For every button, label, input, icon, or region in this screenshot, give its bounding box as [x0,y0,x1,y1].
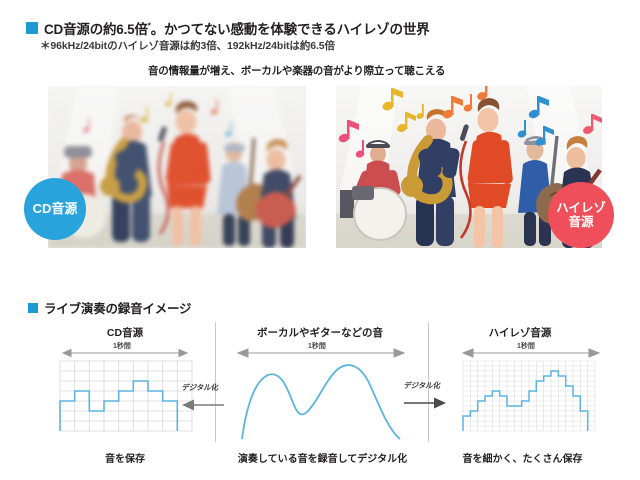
arrow-right-icon [398,393,450,413]
sub-caption: 音の情報量が増え、ボーカルや楽器の音がより際立って聴こえる [148,63,445,78]
duration-label-cd: 1秒間 [113,341,131,351]
badge-hires-label-2: 音源 [568,215,593,229]
panel-hires-source: ハイレゾ 音源 [336,86,602,248]
arrow-left-icon [178,395,230,415]
badge-hires-source: ハイレゾ 音源 [548,182,614,248]
col-title-analog: ボーカルやギターなどの音 [225,325,415,340]
waveform-analog [242,365,400,439]
badge-cd-source: CD音源 [24,178,86,240]
section2-heading-row: ライブ演奏の録音イメージ [28,298,191,317]
chart-analog-svg [232,343,410,443]
badge-hires-label-1: ハイレゾ [556,201,606,215]
page-title: CD音源の約6.5倍*。かつてない感動を体験できるハイレゾの世界 [44,18,429,38]
blue-square-bullet-icon-2 [28,303,38,313]
panel-cd-source: CD音源 [48,86,306,248]
blue-square-bullet-icon [26,22,38,34]
band-illustration-blurred [48,86,306,248]
page-root: CD音源の約6.5倍*。かつてない感動を体験できるハイレゾの世界 ＊96kHz/… [0,0,640,480]
caption-analog: 演奏している音を録音してデジタル化 [225,450,420,465]
badge-cd-label: CD音源 [33,202,78,217]
band-scene-svg [48,86,306,248]
duration-label-analog: 1秒間 [308,341,326,351]
arrow-left-label: デジタル化 [181,382,219,393]
caption-hires: 音を細かく、たくさん保存 [440,450,605,465]
chart-analog-sound: 1秒間 [232,343,410,443]
chart-hires-svg [455,343,605,443]
arrow-left-group: デジタル化 [178,382,230,416]
page-title-rest: 。かつてない感動を体験できるハイレゾの世界 [151,22,430,37]
panel-cd-frame [48,86,306,248]
arrow-right-label: デジタル化 [403,380,441,391]
grid-cd [60,361,192,431]
col-title-hires: ハイレゾ音源 [440,325,600,340]
duration-label-hires: 1秒間 [517,341,535,351]
headline-row: CD音源の約6.5倍*。かつてない感動を体験できるハイレゾの世界 [26,18,429,38]
chart-cd-source: 1秒間 [55,343,195,443]
section2-heading: ライブ演奏の録音イメージ [44,298,191,317]
page-title-main: CD音源の約6.5倍 [44,22,148,37]
arrow-right-group: デジタル化 [398,380,450,414]
caption-cd: 音を保存 [55,450,195,465]
col-title-cd: CD音源 [55,325,195,340]
footnote: ＊96kHz/24bitのハイレゾ音源は約3倍、192kHz/24bitは約6.… [40,38,335,53]
chart-hires-source: 1秒間 [455,343,605,443]
chart-cd-svg [55,343,195,443]
